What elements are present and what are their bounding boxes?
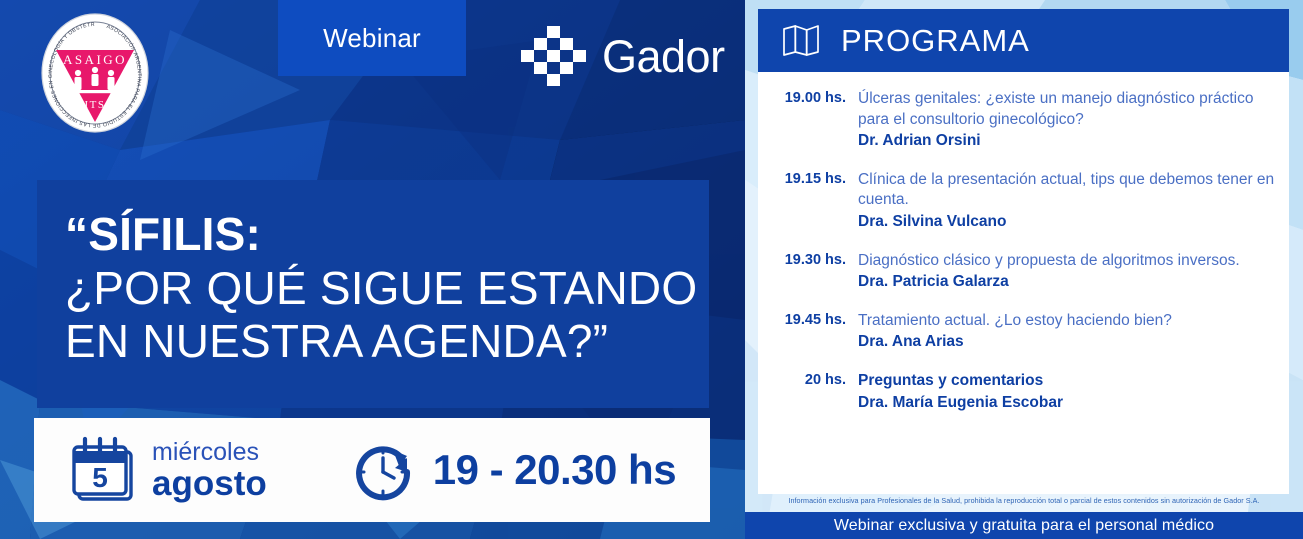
- program-speaker: Dra. Silvina Vulcano: [858, 212, 1275, 233]
- program-header: PROGRAMA: [758, 9, 1289, 72]
- program-item: 19.00 hs. Úlceras genitales: ¿existe un …: [770, 89, 1275, 152]
- program-time: 19.45 hs.: [770, 311, 858, 353]
- program-speaker: Dra. Patricia Galarza: [858, 272, 1275, 293]
- program-topic: Preguntas y comentarios: [858, 371, 1275, 392]
- gador-checker-diamond-icon: [520, 24, 588, 88]
- bottom-banner-label: Webinar exclusiva y gratuita para el per…: [834, 517, 1214, 535]
- program-body: Úlceras genitales: ¿existe un manejo dia…: [858, 89, 1275, 152]
- program-item: 19.30 hs. Diagnóstico clásico y propuest…: [770, 251, 1275, 293]
- time-group: 19 - 20.30 hs: [351, 438, 676, 502]
- program-body: Preguntas y comentarios Dra. María Eugen…: [858, 371, 1275, 413]
- program-time: 19.15 hs.: [770, 170, 858, 233]
- program-time: 19.30 hs.: [770, 251, 858, 293]
- program-title: PROGRAMA: [841, 23, 1030, 59]
- left-panel: ASOCIACIÓN ARGENTINA PARA EL ESTUDIO DE …: [0, 0, 745, 539]
- program-topic: Clínica de la presentación actual, tips …: [858, 170, 1275, 211]
- svg-text:ASAIGO: ASAIGO: [63, 52, 127, 67]
- webinar-label: Webinar: [323, 23, 421, 54]
- webinar-badge: Webinar: [278, 0, 466, 76]
- right-panel: PROGRAMA 19.00 hs. Úlceras genitales: ¿e…: [745, 0, 1303, 539]
- datetime-bar: 5 miércoles agosto: [34, 418, 710, 522]
- program-topic: Tratamiento actual. ¿Lo estoy haciendo b…: [858, 311, 1275, 332]
- program-body: Diagnóstico clásico y propuesta de algor…: [858, 251, 1275, 293]
- legal-disclaimer: Información exclusiva para Profesionales…: [745, 496, 1303, 505]
- program-item: 19.15 hs. Clínica de la presentación act…: [770, 170, 1275, 233]
- svg-text:ITS: ITS: [85, 99, 106, 111]
- program-body: Clínica de la presentación actual, tips …: [858, 170, 1275, 233]
- title-block: “SÍFILIS: ¿POR QUÉ SIGUE ESTANDO EN NUES…: [37, 180, 709, 408]
- program-time: 19.00 hs.: [770, 89, 858, 152]
- date-group: 5 miércoles agosto: [70, 435, 267, 505]
- program-time: 20 hs.: [770, 371, 858, 413]
- program-speaker: Dr. Adrian Orsini: [858, 131, 1275, 152]
- title-line-2: ¿POR QUÉ SIGUE ESTANDO: [65, 264, 709, 312]
- gador-logo: Gador: [520, 24, 725, 88]
- program-item: 20 hs. Preguntas y comentarios Dra. Marí…: [770, 371, 1275, 413]
- program-topic: Diagnóstico clásico y propuesta de algor…: [858, 251, 1275, 272]
- month-label: agosto: [152, 466, 267, 501]
- program-body: Tratamiento actual. ¿Lo estoy haciendo b…: [858, 311, 1275, 353]
- time-range-label: 19 - 20.30 hs: [433, 446, 676, 494]
- asaigo-seal-icon: ASOCIACIÓN ARGENTINA PARA EL ESTUDIO DE …: [38, 12, 152, 134]
- title-line-1: “SÍFILIS:: [65, 210, 709, 258]
- program-card: PROGRAMA 19.00 hs. Úlceras genitales: ¿e…: [758, 9, 1289, 494]
- clock-arrow-icon: [351, 438, 415, 502]
- program-speaker: Dra. María Eugenia Escobar: [858, 393, 1275, 414]
- program-item: 19.45 hs. Tratamiento actual. ¿Lo estoy …: [770, 311, 1275, 353]
- folded-map-icon: [782, 24, 821, 57]
- bottom-banner: Webinar exclusiva y gratuita para el per…: [745, 512, 1303, 539]
- weekday-label: miércoles: [152, 440, 267, 465]
- gador-wordmark: Gador: [602, 34, 725, 79]
- date-text: miércoles agosto: [152, 440, 267, 501]
- title-line-3: EN NUESTRA AGENDA?”: [65, 317, 709, 365]
- svg-text:5: 5: [92, 462, 108, 493]
- program-speaker: Dra. Ana Arias: [858, 332, 1275, 353]
- program-list: 19.00 hs. Úlceras genitales: ¿existe un …: [758, 72, 1289, 413]
- program-topic: Úlceras genitales: ¿existe un manejo dia…: [858, 89, 1275, 130]
- calendar-icon: 5: [70, 435, 138, 505]
- poster-root: ASOCIACIÓN ARGENTINA PARA EL ESTUDIO DE …: [0, 0, 1303, 539]
